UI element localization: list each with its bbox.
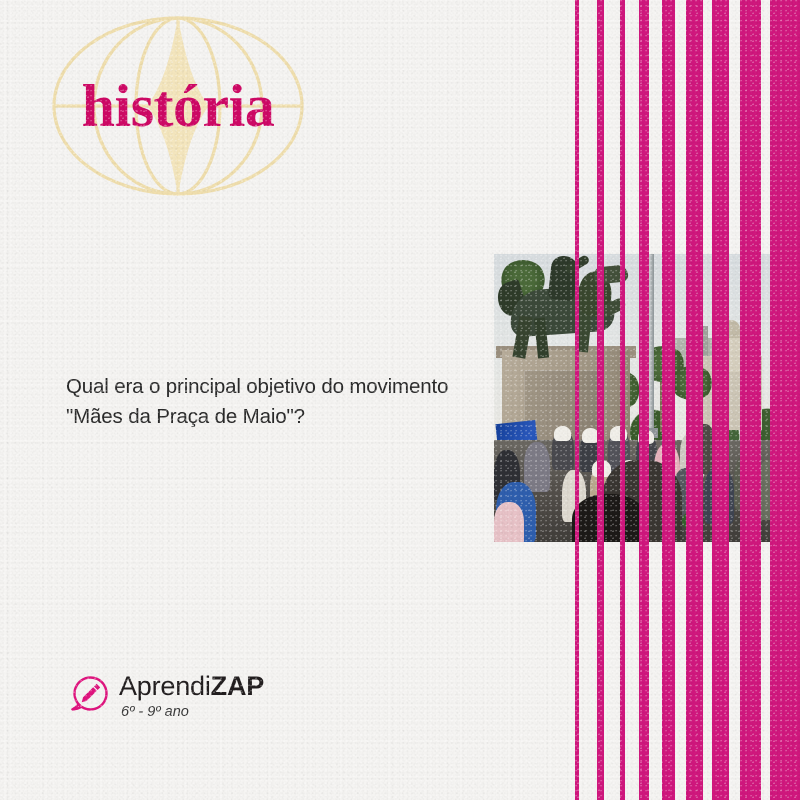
stripe-3	[620, 0, 625, 800]
stripe-2	[597, 0, 604, 800]
decorative-stripe-band	[0, 0, 800, 800]
stripe-5	[662, 0, 675, 800]
stripe-6	[686, 0, 703, 800]
stripe-9	[770, 0, 800, 800]
stripe-7	[712, 0, 729, 800]
slide-canvas: história Qual era o principal objetivo d…	[0, 0, 800, 800]
stripe-1	[575, 0, 579, 800]
stripe-4	[639, 0, 649, 800]
stripe-8	[740, 0, 761, 800]
